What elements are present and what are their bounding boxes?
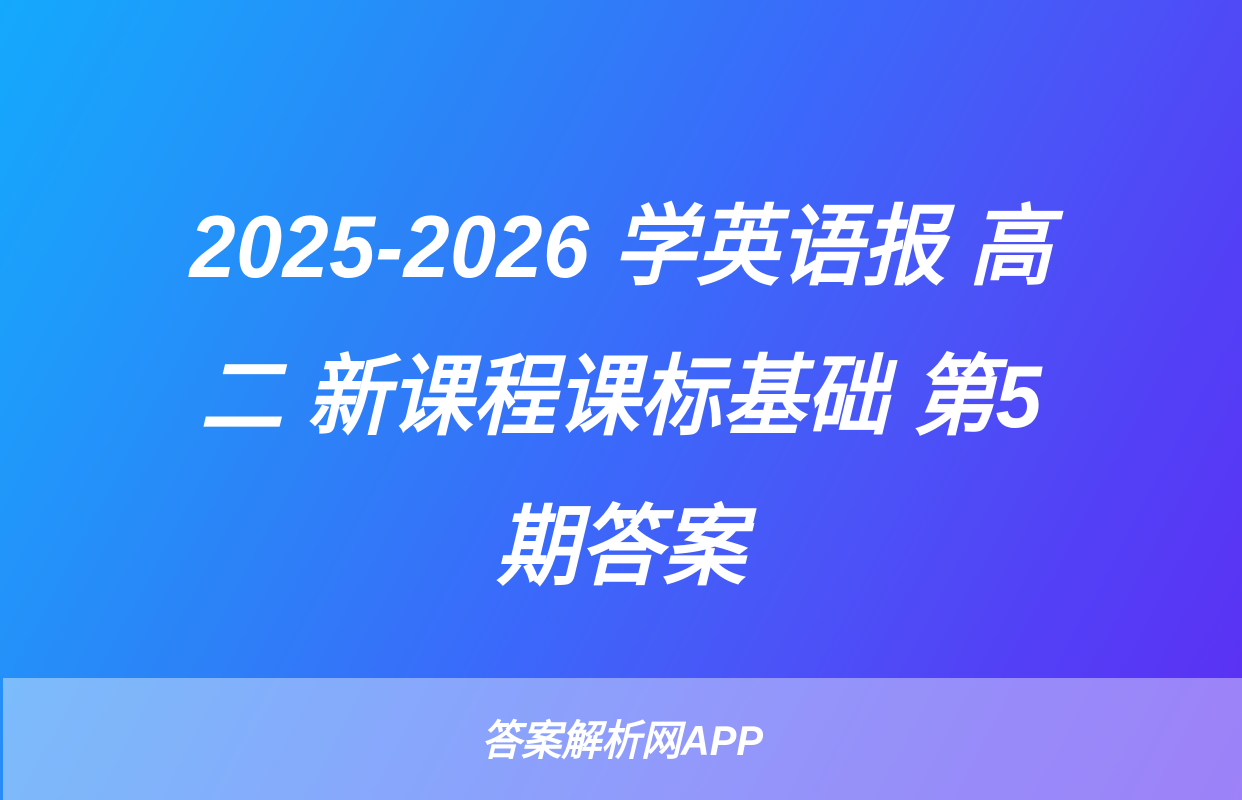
app-watermark-label: 答案解析网APP	[482, 720, 764, 762]
answer-card: 2025-2026 学英语报 高 二 新课程课标基础 第5 期答案 答案解析网A…	[0, 0, 1242, 800]
page-title: 2025-2026 学英语报 高 二 新课程课标基础 第5 期答案	[0, 172, 1242, 622]
title-line-3: 期答案	[96, 472, 1147, 622]
title-line-1: 2025-2026 学英语报 高	[96, 172, 1147, 322]
watermark-band: 答案解析网APP	[3, 678, 1242, 800]
title-line-2: 二 新课程课标基础 第5	[96, 322, 1147, 472]
